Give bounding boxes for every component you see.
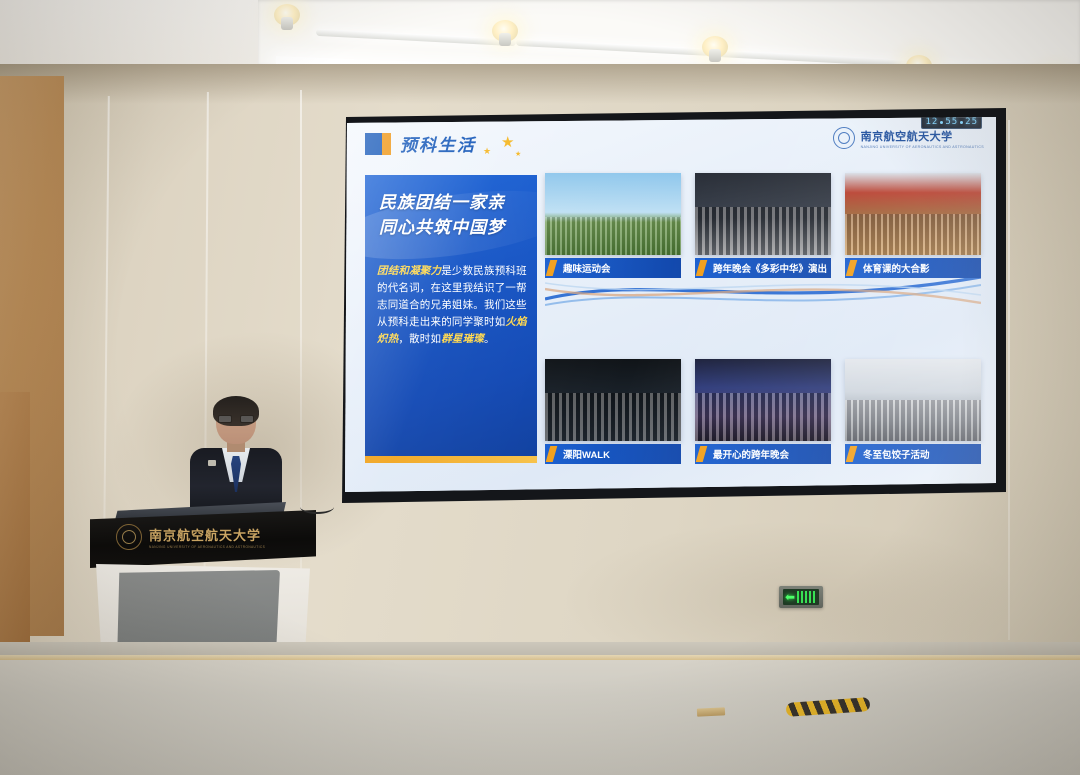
photo-image [845, 359, 981, 441]
caption-tick-icon [846, 260, 858, 276]
clock-hours: 12 [925, 117, 938, 127]
photo-image [545, 173, 681, 255]
slide-header-title: 预科生活 [400, 131, 476, 156]
photo-cell[interactable]: 冬至包饺子活动 [845, 359, 981, 464]
caption-tick-icon [546, 260, 558, 276]
photo-caption: 最开心的跨年晚会 [695, 444, 831, 464]
university-logo: 南京航空航天大学 NANJING UNIVERSITY OF AERONAUTI… [833, 127, 984, 149]
floor-wood-block [697, 707, 725, 716]
clock-separator [940, 121, 943, 124]
speaker-badge [208, 460, 216, 466]
photo-cell[interactable]: 溧阳WALK [545, 359, 681, 464]
slide-text-panel: 民族团结一家亲 同心共筑中国梦 团结和凝聚力是少数民族预科班的代名词，在这里我结… [365, 175, 537, 463]
ceiling-spotlight [492, 20, 518, 42]
clock-seconds: 25 [965, 117, 978, 127]
photo-cell[interactable]: 趣味运动会 [545, 173, 681, 278]
photo-cell[interactable]: 体育课的大合影 [845, 173, 981, 278]
exit-arrow-icon: ⬅ [785, 591, 795, 603]
floor [0, 660, 1080, 775]
clock-separator [960, 121, 963, 124]
clock-display: 12 55 25 [921, 117, 982, 129]
wall-top-shadow [0, 64, 1080, 104]
headline-line-1: 民族团结一家亲 [379, 191, 525, 216]
glasses-icon [217, 415, 255, 423]
university-name-cn: 南京航空航天大学 [861, 131, 953, 143]
body-text-3: 。 [484, 333, 495, 345]
photo-caption-label: 冬至包饺子活动 [863, 447, 930, 461]
photo-caption: 跨年晚会《多彩中华》演出 [695, 258, 831, 278]
photo-caption: 趣味运动会 [545, 258, 681, 278]
podium-logo: 南京航空航天大学 NANJING UNIVERSITY OF AERONAUTI… [116, 524, 265, 550]
photo-caption-label: 最开心的跨年晚会 [713, 447, 789, 461]
wood-wall-panel-lower-left [0, 392, 30, 642]
emergency-exit-sign: ⬅ [779, 586, 823, 608]
photo-image [845, 173, 981, 255]
star-decoration-icon: ★ ★ ★ [475, 135, 535, 161]
caption-tick-icon [546, 446, 558, 462]
photo-caption: 体育课的大合影 [845, 258, 981, 278]
slide-headline: 民族团结一家亲 同心共筑中国梦 [379, 191, 525, 240]
photo-image [545, 359, 681, 441]
caption-tick-icon [696, 260, 708, 276]
projection-screen[interactable]: 预科生活 ★ ★ ★ 南京航空航天大学 NANJING UNIVERSITY O… [345, 117, 996, 492]
caption-tick-icon [846, 446, 858, 462]
slide-header: 预科生活 [365, 131, 476, 156]
photo-image [695, 173, 831, 255]
photo-caption: 溧阳WALK [545, 444, 681, 464]
photo-caption-label: 溧阳WALK [563, 447, 610, 461]
podium-name-en: NANJING UNIVERSITY OF AERONAUTICS AND AS… [149, 545, 265, 549]
exit-sign-text-glyph [797, 591, 817, 603]
clock-minutes: 55 [945, 117, 958, 127]
photo-caption: 冬至包饺子活动 [845, 444, 981, 464]
photo-cell[interactable]: 最开心的跨年晚会 [695, 359, 831, 464]
podium-name-cn: 南京航空航天大学 [149, 528, 261, 543]
university-name-en: NANJING UNIVERSITY OF AERONAUTICS AND AS… [861, 145, 984, 149]
body-text-2: ，散时如 [398, 333, 441, 345]
lecture-hall-photo: 预科生活 ★ ★ ★ 南京航空航天大学 NANJING UNIVERSITY O… [0, 0, 1080, 775]
slide: 预科生活 ★ ★ ★ 南京航空航天大学 NANJING UNIVERSITY O… [345, 117, 996, 492]
podium-cable [300, 500, 334, 514]
photo-cell[interactable]: 跨年晚会《多彩中华》演出 [695, 173, 831, 278]
body-lead: 团结和凝聚力 [377, 265, 441, 277]
slide-body-text: 团结和凝聚力是少数民族预科班的代名词，在这里我结识了一帮志同道合的兄弟姐妹。我们… [377, 263, 529, 348]
university-seal-icon [833, 127, 855, 149]
wall-seam [1008, 120, 1010, 640]
photo-caption-label: 趣味运动会 [563, 261, 611, 275]
photo-caption-label: 体育课的大合影 [863, 261, 930, 275]
headline-line-2: 同心共筑中国梦 [379, 216, 525, 241]
ceiling-spotlight [702, 36, 728, 58]
body-highlight-2: 群星璀璨 [441, 333, 484, 345]
photo-image [695, 359, 831, 441]
photo-grid: 趣味运动会 跨年晚会《多彩中华》演出 体育课的大合影 [545, 173, 981, 465]
photo-caption-label: 跨年晚会《多彩中华》演出 [713, 261, 827, 275]
panel-orange-accent [365, 456, 537, 463]
ceiling-spotlight [274, 4, 300, 26]
caption-tick-icon [696, 446, 708, 462]
header-mark-icon [365, 133, 391, 155]
podium-seal-icon [116, 524, 142, 550]
